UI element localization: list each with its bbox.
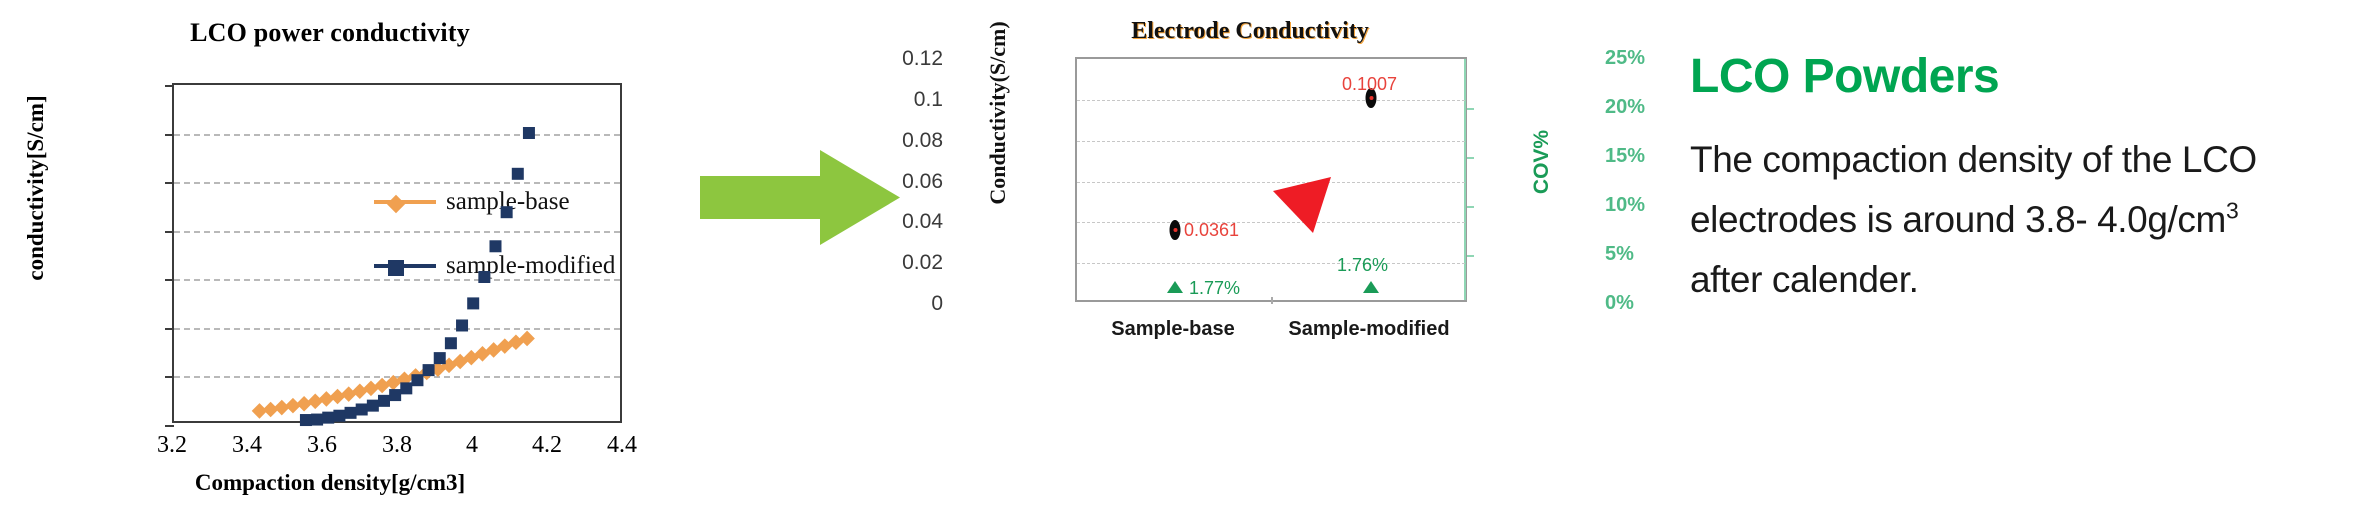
- panel-body-line-2-superscript: 3: [2226, 198, 2238, 224]
- data-label-sample-modified: 0.1007: [1342, 74, 1397, 95]
- chart1-xtick-0: 3.2: [132, 432, 212, 459]
- chart2-ytick-1: 0.02: [823, 251, 943, 275]
- cov-marker-sample-modified: [1363, 281, 1379, 293]
- red-pointer-arrow-icon: [1273, 177, 1333, 233]
- panel-title: LCO Powders: [1690, 52, 2350, 102]
- chart2-ytick-5: 0.1: [823, 88, 943, 112]
- panel-body-line-3: after calender.: [1690, 250, 2350, 310]
- chart2-secondary-y-axis-label: COV%: [1530, 102, 1554, 222]
- panel-body-line-2: electrodes is around 3.8- 4.0g/cm3: [1690, 190, 2350, 250]
- panel-body: The compaction density of the LCO electr…: [1690, 130, 2350, 310]
- chart1-xtick-2: 3.6: [282, 432, 362, 459]
- chart1-xtick-6: 4.4: [582, 432, 662, 459]
- chart-lco-power-conductivity: LCO power conductivity conductivity[S/cm…: [0, 0, 660, 530]
- chart1-xtick-4: 4: [432, 432, 512, 459]
- chart2-ytick-4: 0.08: [823, 129, 943, 153]
- chart1-xtick-5: 4.2: [507, 432, 587, 459]
- chart2-ytick-6: 0.12: [823, 47, 943, 71]
- cov-label-sample-base: 1.77%: [1189, 278, 1240, 299]
- chart1-plot-area: 7.E-05 6.E-05 5.E-05 4.E-05 3.E-05 2.E-0…: [172, 83, 622, 423]
- chart2-xcat-sample-modified: Sample-modified: [1269, 318, 1469, 341]
- chart2-y2tick-2: 10%: [1605, 194, 1695, 217]
- chart1-data-series: [174, 85, 620, 421]
- slide-canvas: LCO power conductivity conductivity[S/cm…: [0, 0, 2366, 530]
- panel-body-line-1: The compaction density of the LCO: [1690, 130, 2350, 190]
- chart1-title: LCO power conductivity: [0, 18, 660, 48]
- chart2-y2tick-3: 15%: [1605, 145, 1695, 168]
- chart2-title: Electrode Conductivity: [950, 18, 1550, 45]
- chart2-ytick-0: 0: [823, 292, 943, 316]
- cov-label-sample-modified: 1.76%: [1337, 255, 1388, 276]
- data-label-sample-base: 0.0361: [1184, 220, 1239, 241]
- cov-marker-sample-base: [1167, 281, 1183, 293]
- chart2-plot-area: 0.12 0.1 0.08 0.06 0.04 0.02 0 25% 20% 1…: [1075, 57, 1467, 302]
- chart-electrode-conductivity: Electrode Conductivity Conductivity(S/cm…: [950, 0, 1590, 530]
- chart2-y2tick-4: 20%: [1605, 96, 1695, 119]
- chart2-y2tick-1: 5%: [1605, 243, 1695, 266]
- chart1-xtick-3: 3.8: [357, 432, 437, 459]
- chart1-y-axis-label: conductivity[S/cm]: [23, 58, 49, 318]
- chart2-ytick-2: 0.04: [823, 210, 943, 234]
- chart2-ytick-3: 0.06: [823, 170, 943, 194]
- description-panel: LCO Powders The compaction density of th…: [1690, 52, 2350, 310]
- chart1-x-axis-label: Compaction density[g/cm3]: [60, 470, 600, 496]
- chart2-y2tick-0: 0%: [1605, 292, 1695, 315]
- chart1-xtick-1: 3.4: [207, 432, 287, 459]
- chart2-y-axis-label: Conductivity(S/cm): [985, 0, 1011, 243]
- chart2-xcat-sample-base: Sample-base: [1073, 318, 1273, 341]
- panel-body-line-2-text: electrodes is around 3.8- 4.0g/cm: [1690, 199, 2226, 240]
- data-point-sample-base: [1170, 220, 1181, 240]
- chart2-y2tick-5: 25%: [1605, 47, 1695, 70]
